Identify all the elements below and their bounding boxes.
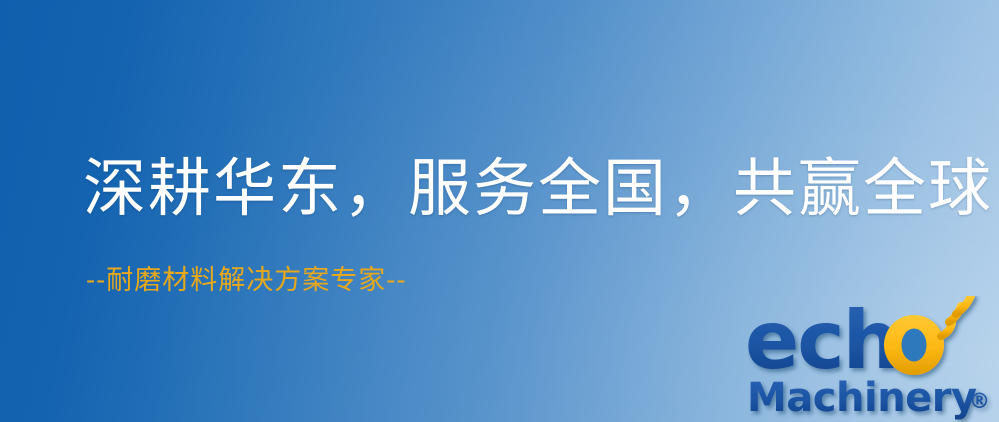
banner-headline: 深耕华东，服务全国，共赢全球 <box>83 156 993 222</box>
logo-wordmark-ech: ech <box>745 296 898 387</box>
banner-subtitle: --耐磨材料解决方案专家-- <box>86 265 407 297</box>
logo-tagline-machinery: Machinery <box>747 375 977 421</box>
company-logo: ech Machinery ® <box>745 296 999 422</box>
echo-machinery-logo-graphic: ech Machinery ® <box>745 296 999 422</box>
logo-wordmark-o <box>884 315 944 375</box>
signal-waves-icon <box>941 296 971 336</box>
logo-registered-mark: ® <box>969 389 990 413</box>
hero-banner: 深耕华东，服务全国，共赢全球 --耐磨材料解决方案专家-- <box>0 0 999 422</box>
